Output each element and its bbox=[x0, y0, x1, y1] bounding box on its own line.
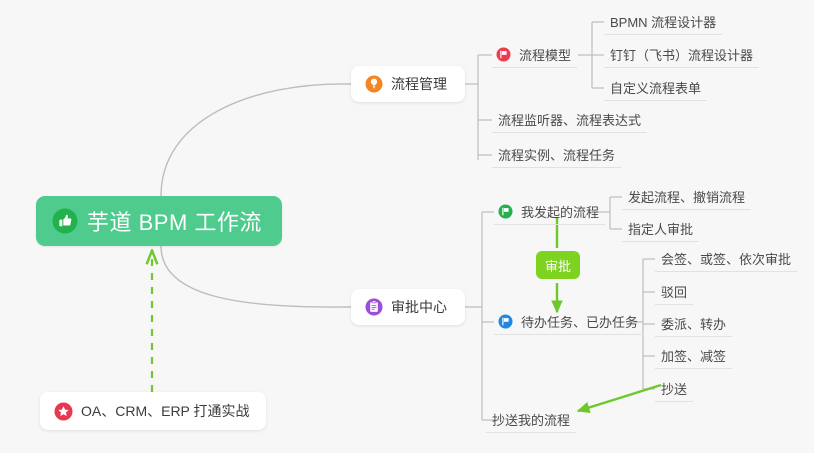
star-red-icon bbox=[54, 402, 73, 421]
approve-badge-label: 审批 bbox=[545, 256, 571, 275]
node-label-start-cancel: 发起流程、撤销流程 bbox=[628, 187, 745, 206]
node-flow-model[interactable]: 流程模型 bbox=[492, 42, 577, 68]
node-custom-form[interactable]: 自定义流程表单 bbox=[604, 75, 707, 101]
node-label-instance-task: 流程实例、流程任务 bbox=[498, 145, 615, 164]
branch-node-approval-center[interactable]: 审批中心 bbox=[351, 289, 465, 325]
node-my-started[interactable]: 我发起的流程 bbox=[494, 199, 605, 225]
node-cc-to-me[interactable]: 抄送我的流程 bbox=[486, 407, 576, 433]
root-node[interactable]: 芋道 BPM 工作流 bbox=[36, 196, 282, 246]
node-instance-task[interactable]: 流程实例、流程任务 bbox=[492, 142, 621, 168]
node-label-cc-to-me: 抄送我的流程 bbox=[492, 410, 570, 429]
node-assignee-approve[interactable]: 指定人审批 bbox=[622, 216, 699, 242]
clipboard-purple-icon bbox=[365, 298, 383, 316]
branch-label-approval-center: 审批中心 bbox=[391, 297, 447, 317]
node-label-sign-modes: 会签、或签、依次审批 bbox=[661, 249, 791, 268]
node-label-assignee-approve: 指定人审批 bbox=[628, 219, 693, 238]
lightbulb-pin-icon bbox=[365, 75, 383, 93]
edge-root-to-approval-center bbox=[161, 246, 351, 307]
node-label-reject: 驳回 bbox=[661, 282, 687, 301]
node-label-dingtalk-designer: 钉钉（飞书）流程设计器 bbox=[610, 45, 753, 64]
flag-blue-icon bbox=[498, 314, 513, 329]
root-label: 芋道 BPM 工作流 bbox=[87, 205, 262, 237]
node-listener-expression[interactable]: 流程监听器、流程表达式 bbox=[492, 107, 647, 133]
node-label-custom-form: 自定义流程表单 bbox=[610, 78, 701, 97]
node-label-my-started: 我发起的流程 bbox=[521, 202, 599, 221]
node-label-cc: 抄送 bbox=[661, 379, 687, 398]
node-bpmn-designer[interactable]: BPMN 流程设计器 bbox=[604, 9, 722, 35]
node-todo-done[interactable]: 待办任务、已办任务 bbox=[494, 309, 644, 335]
node-label-listener-expression: 流程监听器、流程表达式 bbox=[498, 110, 641, 129]
floating-node-oa-crm-erp[interactable]: OA、CRM、ERP 打通实战 bbox=[40, 392, 266, 430]
node-cc[interactable]: 抄送 bbox=[655, 376, 693, 402]
node-label-todo-done: 待办任务、已办任务 bbox=[521, 312, 638, 331]
arrow-cc-to-cc-to-me bbox=[578, 385, 661, 411]
node-reject[interactable]: 驳回 bbox=[655, 279, 693, 305]
node-delegate-transfer[interactable]: 委派、转办 bbox=[655, 311, 732, 337]
edge-root-to-flow-manage bbox=[161, 84, 351, 196]
node-label-add-remove-sign: 加签、减签 bbox=[661, 346, 726, 365]
branch-node-flow-manage[interactable]: 流程管理 bbox=[351, 66, 465, 102]
thumbs-up-icon bbox=[52, 208, 78, 234]
node-label-flow-model: 流程模型 bbox=[519, 45, 571, 64]
node-label-delegate-transfer: 委派、转办 bbox=[661, 314, 726, 333]
flag-green-icon bbox=[498, 204, 513, 219]
node-start-cancel[interactable]: 发起流程、撤销流程 bbox=[622, 184, 751, 210]
node-dingtalk-designer[interactable]: 钉钉（飞书）流程设计器 bbox=[604, 42, 759, 68]
mindmap-canvas: 芋道 BPM 工作流 流程管理 流程模型 BPMN 流程设计器 钉钉（飞书 bbox=[0, 0, 814, 453]
node-add-remove-sign[interactable]: 加签、减签 bbox=[655, 343, 732, 369]
approve-badge[interactable]: 审批 bbox=[536, 251, 580, 279]
floating-label-oa-crm-erp: OA、CRM、ERP 打通实战 bbox=[81, 401, 250, 421]
node-sign-modes[interactable]: 会签、或签、依次审批 bbox=[655, 246, 797, 272]
branch-label-flow-manage: 流程管理 bbox=[391, 74, 447, 94]
node-label-bpmn-designer: BPMN 流程设计器 bbox=[610, 12, 716, 31]
flag-red-icon bbox=[496, 47, 511, 62]
